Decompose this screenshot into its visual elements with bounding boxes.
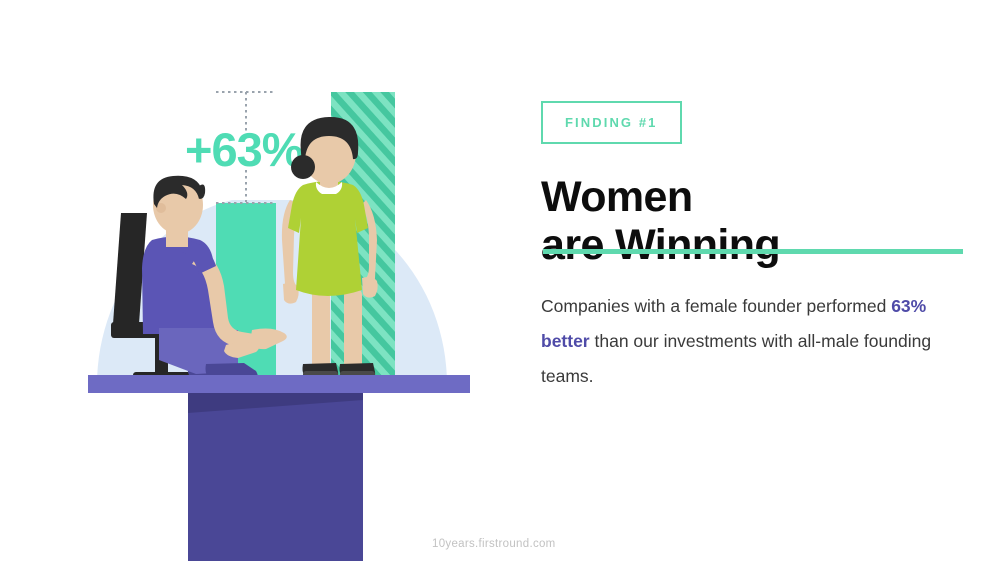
finding-badge: FINDING #1 <box>541 101 682 144</box>
body-copy: Companies with a female founder performe… <box>541 289 941 394</box>
title-divider <box>543 249 963 254</box>
illustration: +63% <box>0 0 500 563</box>
headline-line-1: Women <box>541 173 693 221</box>
slide: +63% <box>0 0 1000 563</box>
delta-label: +63% <box>185 123 303 176</box>
chart-illustration: +63% <box>0 0 500 563</box>
platform-slab <box>88 375 470 393</box>
finding-badge-label: FINDING #1 <box>565 115 658 130</box>
body-text-part-2: than our investments with all-male found… <box>541 331 931 386</box>
headline-line-2: are Winning <box>541 221 981 270</box>
footer-url: 10years.firstround.com <box>432 538 556 550</box>
content-panel: FINDING #1 Women are Winning Companies w… <box>541 0 981 563</box>
body-text-part-1: Companies with a female founder performe… <box>541 296 891 316</box>
pedestal-column <box>188 389 363 561</box>
page-title: Women are Winning <box>541 173 981 270</box>
